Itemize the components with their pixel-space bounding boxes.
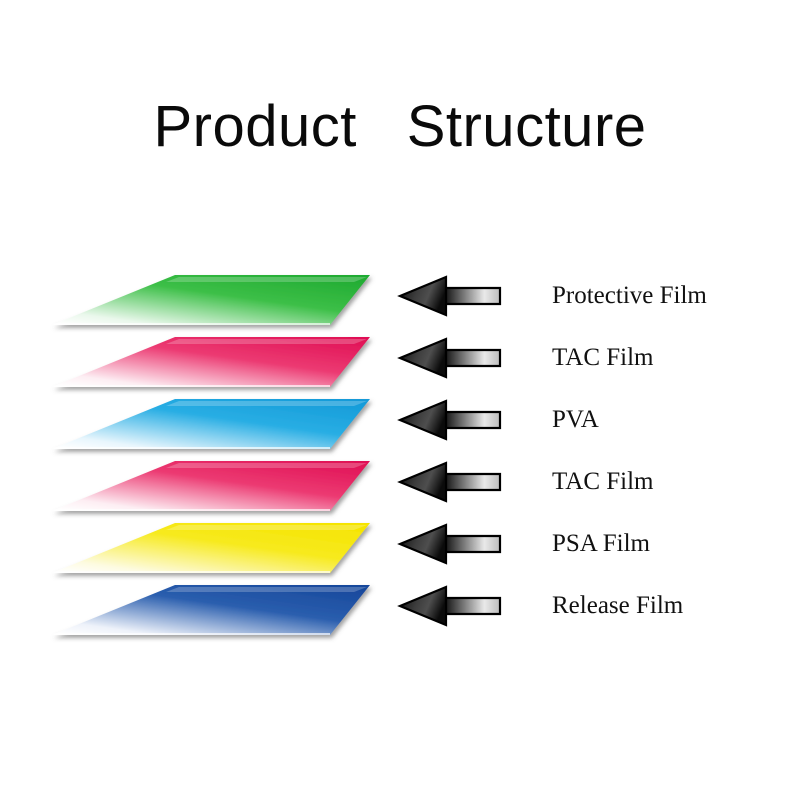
- layer-label: TAC Film: [552, 345, 654, 370]
- left-arrow-icon: [400, 587, 500, 625]
- layer-label: Protective Film: [552, 283, 707, 308]
- layer-plate: [52, 337, 370, 387]
- left-arrow-icon: [400, 277, 500, 315]
- left-arrow-icon: [400, 463, 500, 501]
- diagram-canvas: Product Structure Protective FilmTAC Fil…: [0, 0, 800, 800]
- layer-plate: [52, 523, 370, 573]
- layer-plate: [52, 399, 370, 449]
- layer-label: PVA: [552, 407, 599, 432]
- layer-plate: [52, 461, 370, 511]
- layer-label: PSA Film: [552, 531, 650, 556]
- layer-label: Release Film: [552, 593, 683, 618]
- layer-plate: [52, 275, 370, 325]
- page-title: Product Structure: [0, 98, 800, 156]
- layer-plate: [52, 585, 370, 635]
- layer-label: TAC Film: [552, 469, 654, 494]
- left-arrow-icon: [400, 339, 500, 377]
- left-arrow-icon: [400, 525, 500, 563]
- left-arrow-icon: [400, 401, 500, 439]
